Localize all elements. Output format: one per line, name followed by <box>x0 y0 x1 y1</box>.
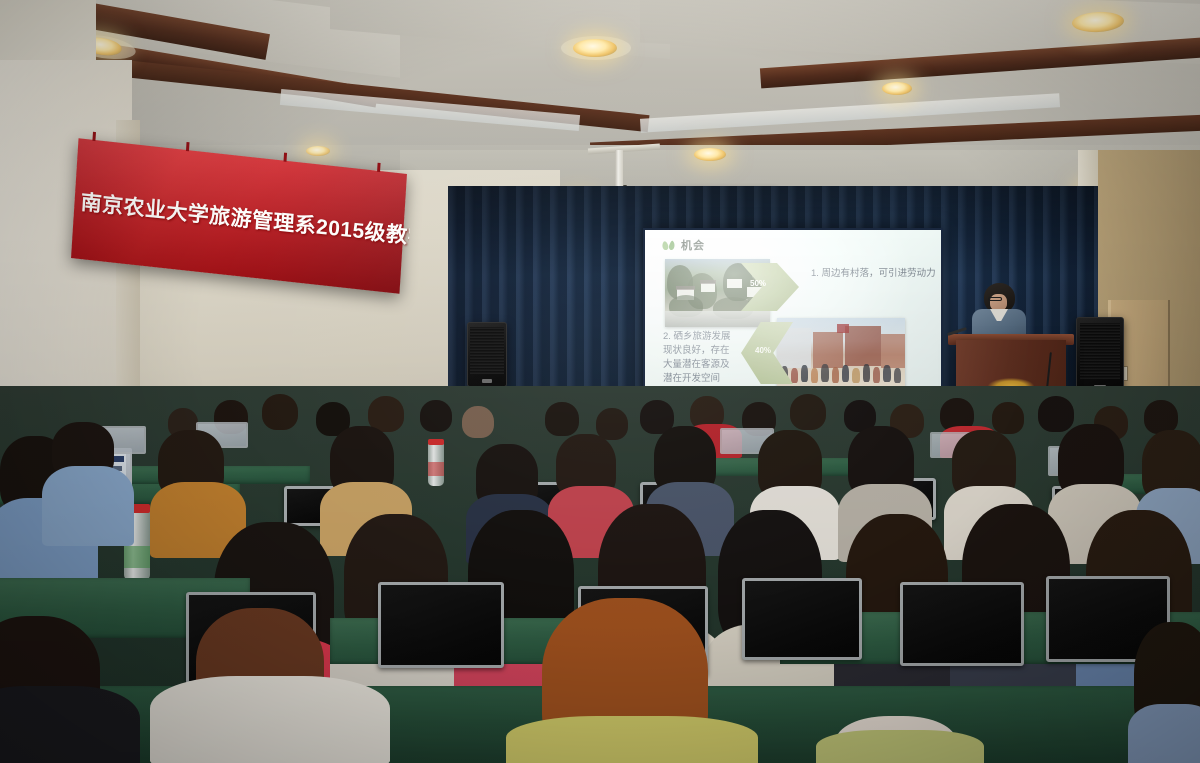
pa-speaker-right <box>1076 317 1124 394</box>
audience-seating-area <box>0 386 1200 763</box>
audience-head <box>992 402 1024 434</box>
audience-head <box>420 400 452 432</box>
ceiling-downlight <box>694 148 726 161</box>
audience-person-nearest <box>506 716 758 763</box>
slide-content: 机会 50% 1. 周边有村落，可引进劳动力 <box>645 230 941 408</box>
audience-head <box>596 408 628 440</box>
ceiling-downlight <box>306 146 330 156</box>
ceiling-downlight <box>573 39 617 57</box>
audience-person-nearest <box>1128 704 1200 763</box>
audience-person-nearest <box>816 730 984 763</box>
chair-foreground <box>900 582 1024 666</box>
audience-person-nearest <box>150 676 390 763</box>
bottle-label <box>428 462 444 476</box>
audience-person <box>42 466 134 546</box>
audience-head <box>262 394 298 430</box>
chair-foreground <box>378 582 504 668</box>
glasses-icon <box>988 297 1002 301</box>
audience-head <box>1144 400 1178 434</box>
audience-head <box>790 394 826 430</box>
bottle-label <box>124 546 150 568</box>
audience-head <box>1038 396 1074 432</box>
audience-head <box>545 402 579 436</box>
projection-screen: 机会 50% 1. 周边有村落，可引进劳动力 <box>643 228 943 410</box>
bottle-cap <box>428 439 444 445</box>
pa-speaker-left <box>467 322 507 387</box>
lecture-hall-photo: 南京农业大学旅游管理系2015级教学实习活动 机会 <box>0 0 1200 763</box>
chair-foreground <box>742 578 862 660</box>
audience-person-nearest <box>0 686 140 763</box>
audience-head <box>462 406 494 438</box>
ceiling-downlight <box>882 82 912 95</box>
